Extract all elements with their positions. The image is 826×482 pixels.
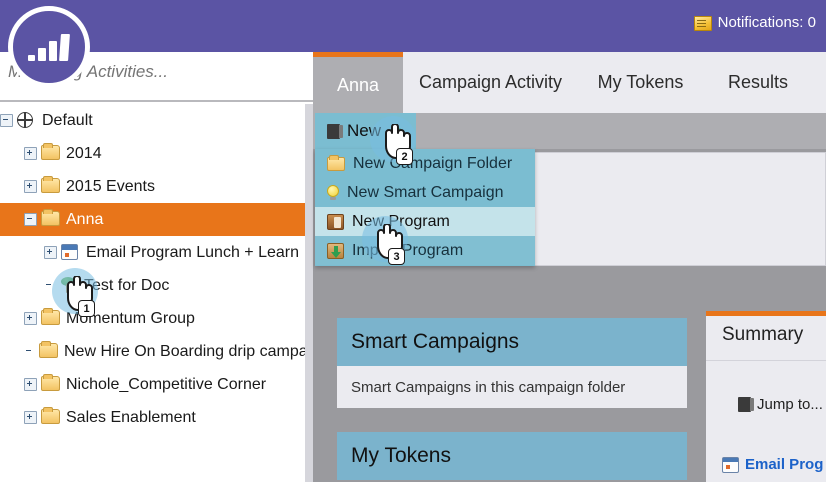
tree-item-label: Momentum Group [66, 310, 195, 328]
tree-item-label: Sales Enablement [66, 409, 196, 427]
menu-item-label: New Program [352, 213, 450, 231]
book-icon [327, 124, 340, 139]
tab-label: My Tokens [598, 72, 684, 93]
collapse-icon[interactable] [24, 213, 37, 226]
collapse-icon[interactable] [0, 114, 13, 127]
tab-results[interactable]: Results [703, 52, 813, 113]
import-program-icon [327, 243, 344, 259]
app-root: Notifications: 0 Default20142015 EventsA… [0, 0, 826, 482]
my-tokens-title: My Tokens [337, 432, 687, 480]
tree-item-momentum-group[interactable]: Momentum Group [0, 302, 313, 335]
folder-icon [39, 343, 59, 360]
marketing-activities-tree[interactable]: Default20142015 EventsAnnaEmail Program … [0, 104, 313, 482]
new-button[interactable]: New [315, 113, 416, 149]
smart-campaigns-title: Smart Campaigns [337, 318, 687, 366]
tree-item-label: New Hire On Boarding drip campaign [64, 343, 313, 361]
tree-item-2014[interactable]: 2014 [0, 137, 313, 170]
expand-icon[interactable] [24, 180, 37, 193]
expand-icon[interactable] [24, 312, 37, 325]
folder-icon [41, 376, 61, 393]
menu-item-new-smart-campaign[interactable]: New Smart Campaign [315, 178, 535, 207]
jump-to-label: Jump to... [757, 396, 823, 413]
lightbulb-icon [327, 185, 339, 200]
tree-item-sales-enablement[interactable]: Sales Enablement [0, 401, 313, 434]
summary-panel: Summary Jump to... Email Prog [706, 311, 826, 482]
summary-title: Summary [706, 316, 826, 346]
new-button-label: New [347, 121, 381, 141]
globe-icon [17, 112, 37, 129]
tree-item-label: Email Program Lunch + Learn [86, 244, 299, 262]
tree-item-label: Default [42, 112, 93, 130]
sidebar-divider [0, 100, 313, 102]
folder-icon [327, 157, 345, 171]
folder-icon [41, 178, 61, 195]
menu-item-new-program[interactable]: New Program [315, 207, 535, 236]
tab-anna[interactable]: Anna [313, 52, 403, 113]
smart-campaigns-card[interactable]: Smart Campaigns Smart Campaigns in this … [337, 318, 687, 408]
tree-item-2015-events[interactable]: 2015 Events [0, 170, 313, 203]
tree-item-new-hire-on-boarding-drip-campaign[interactable]: New Hire On Boarding drip campaign [0, 335, 313, 368]
menu-item-label: New Smart Campaign [347, 184, 504, 202]
jump-to-link[interactable]: Jump to... [738, 396, 823, 413]
folder-icon [41, 310, 61, 327]
tree-item-label: 2015 Events [66, 178, 155, 196]
tree-icon [59, 277, 79, 294]
tree-item-test-for-doc[interactable]: Test for Doc [0, 269, 313, 302]
folder-icon [41, 145, 61, 162]
tree-item-default[interactable]: Default [0, 104, 313, 137]
smart-campaigns-body: Smart Campaigns in this campaign folder [337, 366, 687, 408]
tab-my-tokens[interactable]: My Tokens [578, 52, 703, 113]
expand-icon[interactable] [24, 378, 37, 391]
notifications-indicator[interactable]: Notifications: 0 [694, 14, 816, 32]
tree-item-anna[interactable]: Anna [0, 203, 313, 236]
logo-bars [28, 33, 70, 61]
new-dropdown-menu[interactable]: New Campaign FolderNew Smart CampaignNew… [315, 149, 535, 266]
spacer [24, 346, 35, 357]
tree-item-label: Anna [66, 211, 103, 229]
tree-item-label: Test for Doc [84, 277, 169, 295]
notifications-label: Notifications: 0 [718, 14, 816, 32]
expand-icon[interactable] [24, 411, 37, 424]
green-caret-down-icon [391, 128, 401, 135]
content-gutter [313, 266, 826, 310]
email-program-label: Email Prog [745, 456, 823, 473]
tree-item-label: 2014 [66, 145, 102, 163]
expand-icon[interactable] [24, 147, 37, 160]
tab-label: Results [728, 72, 788, 93]
menu-item-import-program[interactable]: Import Program [315, 236, 535, 265]
menu-item-label: New Campaign Folder [353, 155, 512, 173]
tree-item-email-program-lunch-learn[interactable]: Email Program Lunch + Learn [0, 236, 313, 269]
menu-item-label: Import Program [352, 242, 463, 260]
sidebar-scrollbar[interactable] [305, 104, 313, 482]
folder-icon [41, 409, 61, 426]
menu-item-new-campaign-folder[interactable]: New Campaign Folder [315, 149, 535, 178]
tree-item-label: Nichole_Competitive Corner [66, 376, 266, 394]
notification-card-icon [694, 16, 712, 31]
tab-campaign-activity[interactable]: Campaign Activity [403, 52, 578, 113]
expand-icon[interactable] [44, 246, 57, 259]
tab-label: Anna [337, 75, 379, 96]
email-program-link[interactable]: Email Prog [722, 456, 823, 473]
book-icon [738, 397, 751, 412]
my-tokens-card[interactable]: My Tokens [337, 432, 687, 482]
tree-item-nichole-competitive-corner[interactable]: Nichole_Competitive Corner [0, 368, 313, 401]
calendar-icon [722, 457, 739, 473]
spacer [44, 280, 55, 291]
top-header-bar: Notifications: 0 [0, 0, 826, 52]
folder-icon [41, 211, 61, 228]
program-icon [327, 214, 344, 230]
summary-divider [706, 360, 826, 361]
tab-bar: AnnaCampaign ActivityMy TokensResults [313, 52, 826, 113]
calendar-icon [61, 244, 81, 261]
bar-chart-logo-icon[interactable] [8, 6, 90, 88]
tab-label: Campaign Activity [419, 72, 562, 93]
